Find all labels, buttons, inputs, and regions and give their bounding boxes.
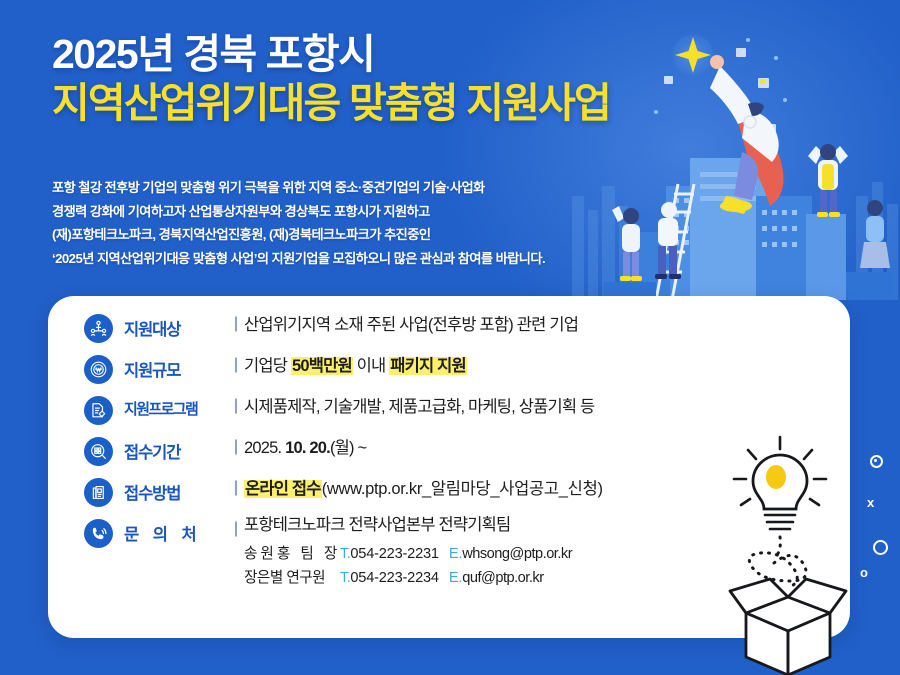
decor-x-4: x bbox=[867, 495, 874, 510]
row-separator: | bbox=[228, 520, 244, 538]
contact-mail-1[interactable]: whsong@ptp.or.kr bbox=[462, 546, 572, 562]
contact-tel-2[interactable]: 054-223-2234 bbox=[350, 570, 438, 586]
poster-root: 2025년 경북 포항시 지역산업위기대응 맞춤형 지원사업 포항 철강 전후방… bbox=[0, 0, 900, 675]
subtitle-line-3: (재)포항테크노파크, 경북지역산업진흥원, (재)경북테크노파크가 추진중인 bbox=[52, 223, 732, 247]
info-card: 지원대상 | 산업위기지역 소재 주된 사업(전후방 포함) 관련 기업 지원규… bbox=[48, 296, 850, 638]
cheer-figure-right bbox=[808, 144, 848, 217]
contact-person-2: 장은별 연구원T.054-223-2234E.quf@ptp.or.kr bbox=[244, 567, 572, 591]
value-support-scale: 기업당 50백만원 이내 패키지 지원 bbox=[244, 356, 467, 377]
title-line-2: 지역산업위기대응 맞춤형 지원사업 bbox=[52, 80, 692, 127]
phone-icon bbox=[84, 519, 113, 548]
value-support-target: 산업위기지역 소재 주된 사업(전후방 포함) 관련 기업 bbox=[244, 315, 578, 336]
info-row-support-scale: 지원규모 | 기업당 50백만원 이내 패키지 지원 bbox=[84, 351, 830, 392]
online-apply-highlight[interactable]: 온라인 접수 bbox=[244, 480, 322, 498]
document-stack-icon bbox=[84, 478, 113, 507]
label-support-target: 지원대상 bbox=[124, 316, 228, 340]
contact-tel-1[interactable]: 054-223-2231 bbox=[350, 546, 438, 562]
poster-subtitle: 포항 철강 전후방 기업의 맞춤형 위기 극복을 위한 지역 중소·중견기업의 … bbox=[52, 176, 732, 270]
subtitle-line-1: 포항 철강 전후방 기업의 맞춤형 위기 극복을 위한 지역 중소·중견기업의 … bbox=[52, 176, 732, 200]
tel-prefix-2: T. bbox=[340, 570, 350, 586]
label-support-scale: 지원규모 bbox=[124, 357, 228, 381]
row-separator: | bbox=[228, 356, 244, 374]
scale-amount-highlight: 50백만원 bbox=[291, 357, 353, 375]
info-row-support-program: 지원프로그램 | 시제품제작, 기술개발, 제품고급화, 마케팅, 상품기획 등 bbox=[84, 392, 830, 433]
row-separator: | bbox=[228, 479, 244, 497]
scale-package-highlight: 패키지 지원 bbox=[389, 357, 467, 375]
subtitle-line-4: ‘2025년 지역산업위기대응 맞춤형 사업’의 지원기업을 모집하오니 많은 … bbox=[52, 247, 732, 271]
title-line-1: 2025년 경북 포항시 bbox=[52, 32, 692, 78]
value-contact-team: 포항테크노파크 전략사업본부 전략기획팀 bbox=[244, 516, 510, 534]
contact-name-2: 장은별 연구원 bbox=[244, 567, 340, 591]
document-pen-icon bbox=[84, 396, 113, 425]
row-separator: | bbox=[228, 315, 244, 333]
contact-person-1: 송원홍 팀 장T.054-223-2231E.whsong@ptp.or.kr bbox=[244, 543, 572, 567]
mail-prefix-2: E. bbox=[449, 570, 462, 586]
value-application-period: 2025. 10. 20.(월) ~ bbox=[244, 438, 366, 459]
application-url[interactable]: (www.ptp.or.kr_알림마당_사업공고_신청) bbox=[322, 480, 603, 498]
period-suffix: (월) ~ bbox=[330, 439, 366, 457]
label-application-period: 접수기간 bbox=[124, 439, 228, 463]
period-year: 2025. bbox=[244, 439, 285, 457]
poster-title: 2025년 경북 포항시 지역산업위기대응 맞춤형 지원사업 bbox=[52, 32, 692, 127]
label-support-program: 지원프로그램 bbox=[124, 398, 228, 419]
contact-mail-2[interactable]: quf@ptp.or.kr bbox=[462, 570, 543, 586]
info-rows: 지원대상 | 산업위기지역 소재 주된 사업(전후방 포함) 관련 기업 지원규… bbox=[84, 310, 830, 591]
contact-name-1: 송원홍 팀 장 bbox=[244, 543, 340, 567]
period-date: 10. 20. bbox=[285, 439, 330, 457]
decor-x-5: o bbox=[860, 565, 868, 580]
label-application-method: 접수방법 bbox=[124, 480, 228, 504]
decor-ring-2 bbox=[873, 540, 888, 555]
won-currency-icon bbox=[84, 355, 113, 384]
info-row-application-method: 접수방법 | 온라인 접수(www.ptp.or.kr_알림마당_사업공고_신청… bbox=[84, 474, 830, 515]
contact-block: 포항테크노파크 전략사업본부 전략기획팀 송원홍 팀 장T.054-223-22… bbox=[244, 515, 572, 591]
mail-prefix-1: E. bbox=[449, 546, 462, 562]
contact-list: 송원홍 팀 장T.054-223-2231E.whsong@ptp.or.kr … bbox=[244, 543, 572, 590]
info-row-contact: 문 의 처 | 포항테크노파크 전략사업본부 전략기획팀 송원홍 팀 장T.05… bbox=[84, 515, 830, 591]
value-support-program: 시제품제작, 기술개발, 제품고급화, 마케팅, 상품기획 등 bbox=[244, 397, 594, 418]
scale-prefix: 기업당 bbox=[244, 357, 291, 375]
tel-prefix-1: T. bbox=[340, 546, 350, 562]
info-row-support-target: 지원대상 | 산업위기지역 소재 주된 사업(전후방 포함) 관련 기업 bbox=[84, 310, 830, 351]
decor-ring-3 bbox=[870, 455, 883, 468]
calendar-search-icon bbox=[84, 437, 113, 466]
row-separator: | bbox=[228, 397, 244, 415]
info-row-application-period: 접수기간 | 2025. 10. 20.(월) ~ bbox=[84, 433, 830, 474]
subtitle-line-2: 경쟁력 강화에 기여하고자 산업통상자원부와 경상북도 포항시가 지원하고 bbox=[52, 200, 732, 224]
row-separator: | bbox=[228, 438, 244, 456]
people-group-icon bbox=[84, 314, 113, 343]
value-application-method: 온라인 접수(www.ptp.or.kr_알림마당_사업공고_신청) bbox=[244, 479, 603, 500]
label-contact: 문 의 처 bbox=[124, 521, 228, 545]
scale-middle: 이내 bbox=[353, 357, 389, 375]
